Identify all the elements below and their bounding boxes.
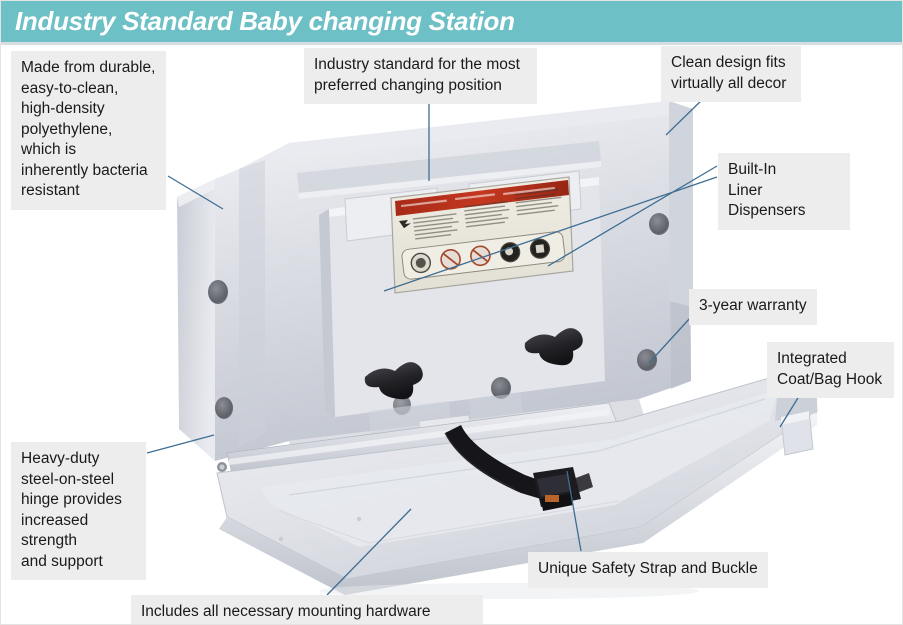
header-divider [1,42,903,45]
page-title: Industry Standard Baby changing Station [15,6,515,37]
callout-coat-bag-hook: Integrated Coat/Bag Hook [767,342,894,398]
product-feature-diagram: Industry Standard Baby changing Station [0,0,903,625]
callout-material: Made from durable, easy-to-clean, high-d… [11,51,166,210]
back-plate-left-side [177,179,215,461]
callout-warranty: 3-year warranty [689,289,817,325]
callout-mounting-hardware: Includes all necessary mounting hardware [131,595,483,625]
callout-hinge: Heavy-duty steel-on-steel hinge provides… [11,442,146,580]
integrated-coat-bag-hook [781,411,813,455]
callout-liner-dispensers: Built-In Liner Dispensers [718,153,850,230]
callout-safety-strap: Unique Safety Strap and Buckle [528,552,768,588]
callout-changing-position: Industry standard for the most preferred… [304,48,537,104]
back-plate-right-flange [669,101,693,307]
callout-clean-design: Clean design fits virtually all decor [661,46,801,102]
